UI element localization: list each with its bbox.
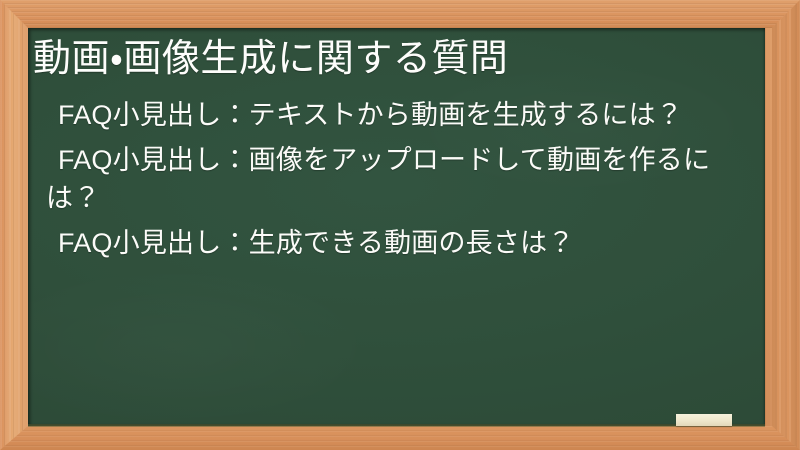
page-title: 動画・画像生成に関する質問 (33, 34, 733, 84)
frame-rail-top (0, 0, 800, 28)
list-item: FAQ小見出し：画像をアップロードして動画を作るには？ (46, 141, 746, 217)
chalkboard-slide: 動画・画像生成に関する質問 FAQ小見出し：テキストから動画を生成するには？ F… (0, 0, 800, 450)
frame-rail-bottom-ledge (0, 426, 800, 450)
board-content: 動画・画像生成に関する質問 FAQ小見出し：テキストから動画を生成するには？ F… (28, 28, 765, 426)
list-item: FAQ小見出し：生成できる動画の長さは？ (46, 224, 746, 262)
faq-question-list: FAQ小見出し：テキストから動画を生成するには？ FAQ小見出し：画像をアップロ… (46, 96, 746, 269)
list-item: FAQ小見出し：テキストから動画を生成するには？ (46, 96, 746, 134)
frame-stile-left (0, 0, 28, 450)
